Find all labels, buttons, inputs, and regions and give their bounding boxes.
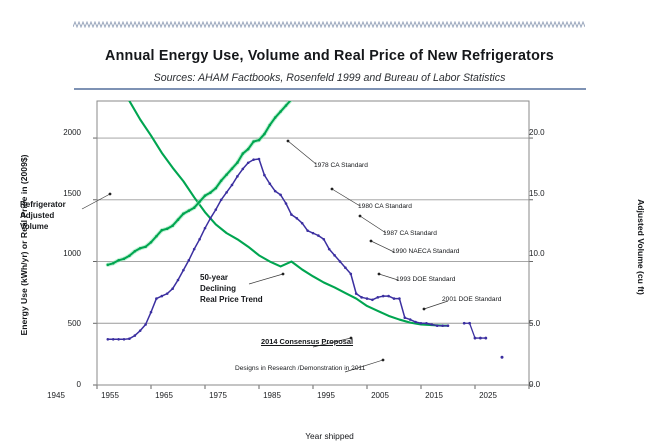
data-series-group <box>107 96 504 359</box>
annotation-1978-ca-standard: 1978 CA Standard <box>314 162 368 169</box>
annotation-2014-consensus-proposal: 2014 Consensus Proposal <box>261 337 353 346</box>
zigzag-icon <box>73 21 585 28</box>
price-label-line1: 50-year <box>200 273 228 282</box>
price-label-line3: Real Price Trend <box>200 295 263 304</box>
annotation-1993-doe-standard: 1993 DOE Standard <box>396 276 455 283</box>
page-title: Annual Energy Use, Volume and Real Price… <box>0 48 659 64</box>
annotation-1980-ca-standard: 1980 CA Standard <box>358 203 412 210</box>
decorative-zigzag-band <box>73 21 585 28</box>
annotation-designs-in-research: Designs in Research /Demonstration in 20… <box>235 365 365 372</box>
price-label-line2: Declining <box>200 284 236 293</box>
slide-canvas: Annual Energy Use, Volume and Real Price… <box>0 0 659 446</box>
volume-label-line2: Adjusted <box>20 211 54 220</box>
gridlines <box>93 138 533 389</box>
annotation-2001-doe-standard: 2001 DOE Standard <box>442 296 501 303</box>
title-divider <box>74 88 586 90</box>
x-axis-title: Year shipped <box>0 431 659 441</box>
volume-label-line1: Refrigerator <box>20 200 66 209</box>
annotation-50-year-declining-real-price-trend: 50-year Declining Real Price Trend <box>200 272 278 305</box>
annotation-refrigerator-adjusted-volume: Refrigerator Adjusted Volume <box>20 199 98 232</box>
plot-svg <box>0 96 659 396</box>
page-subtitle: Sources: AHAM Factbooks, Rosenfeld 1999 … <box>0 72 659 84</box>
annotation-1987-ca-standard: 1987 CA Standard <box>383 230 437 237</box>
chart-area: Energy Use (kWh/yr) or Real Price in (20… <box>0 96 659 446</box>
annotation-1990-naeca-standard: 1990 NAECA Standard <box>392 248 459 255</box>
volume-label-line3: Volume <box>20 222 48 231</box>
